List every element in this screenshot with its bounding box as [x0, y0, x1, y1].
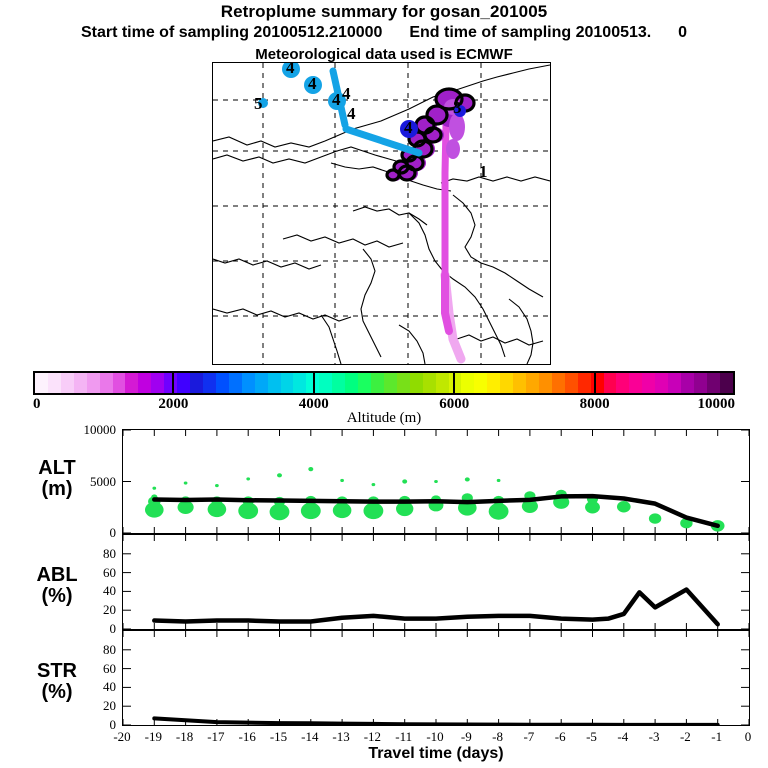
xtick--15: -15	[263, 729, 295, 745]
colorbar-swatch-31	[436, 373, 449, 393]
colorbar-swatch-11	[177, 373, 190, 393]
str-ytick-0: 0	[40, 717, 116, 733]
altitude-colorbar[interactable]	[33, 371, 735, 395]
map-label: 4	[308, 75, 317, 92]
colorbar-swatch-35	[487, 373, 500, 393]
alt-scatter-marker	[277, 473, 282, 477]
map-label: 4	[404, 119, 413, 136]
start-time-value: 20100512.210000	[253, 24, 382, 41]
xtick--6: -6	[544, 729, 576, 745]
start-time-label: Start time of sampling	[81, 24, 249, 41]
alt-scatter-marker	[308, 467, 313, 471]
map-graticule	[213, 63, 550, 364]
map-label: 5	[254, 95, 263, 112]
colorbar-swatch-42	[578, 373, 591, 393]
alt-ytick-5000: 5000	[40, 474, 116, 490]
alt-scatter-marker	[497, 479, 501, 482]
colorbar-swatch-0	[35, 373, 48, 393]
map-label: 4	[347, 105, 356, 122]
alt-chart[interactable]	[122, 429, 750, 534]
colorbar-swatch-4	[87, 373, 100, 393]
alt-ytick-0: 0	[40, 525, 116, 541]
alt-scatter-marker	[340, 479, 344, 482]
colorbar-swatch-33	[461, 373, 474, 393]
colorbar-tick-0: 0	[33, 396, 93, 413]
colorbar-swatch-15	[229, 373, 242, 393]
colorbar-swatch-19	[281, 373, 294, 393]
colorbar-divider-3	[594, 371, 596, 395]
alt-scatter-marker	[402, 479, 407, 483]
colorbar-swatch-2	[61, 373, 74, 393]
str-ytick-80: 80	[40, 642, 116, 658]
colorbar-swatch-6	[113, 373, 126, 393]
colorbar-swatch-50	[681, 373, 694, 393]
map-label: 4	[332, 91, 341, 108]
colorbar-swatch-34	[474, 373, 487, 393]
colorbar-swatch-22	[319, 373, 332, 393]
alt-scatter-marker	[152, 487, 156, 490]
xtick--3: -3	[638, 729, 670, 745]
colorbar-swatch-46	[629, 373, 642, 393]
colorbar-swatch-16	[242, 373, 255, 393]
xtick--5: -5	[576, 729, 608, 745]
colorbar-swatch-24	[345, 373, 358, 393]
colorbar-swatch-48	[655, 373, 668, 393]
map-graphic	[213, 63, 550, 364]
colorbar-tick-2000: 2000	[143, 396, 203, 413]
str-plot-area	[123, 631, 749, 725]
xtick--12: -12	[356, 729, 388, 745]
colorbar-divider-1	[313, 371, 315, 395]
xtick--16: -16	[231, 729, 263, 745]
xtick--11: -11	[388, 729, 420, 745]
colorbar-swatch-26	[371, 373, 384, 393]
colorbar-swatch-9	[151, 373, 164, 393]
xtick--18: -18	[169, 729, 201, 745]
abl-chart[interactable]	[122, 534, 750, 630]
xtick--13: -13	[325, 729, 357, 745]
xtick--19: -19	[137, 729, 169, 745]
abl-ytick-60: 60	[40, 565, 116, 581]
xtick--17: -17	[200, 729, 232, 745]
colorbar-divider-2	[453, 371, 455, 395]
xtick--14: -14	[294, 729, 326, 745]
colorbar-swatch-37	[513, 373, 526, 393]
plume-trail	[445, 125, 461, 359]
colorbar-swatch-3	[74, 373, 87, 393]
str-ytick-60: 60	[40, 661, 116, 677]
abl-plot-area	[123, 535, 749, 629]
colorbar-swatch-8	[138, 373, 151, 393]
colorbar-swatch-1	[48, 373, 61, 393]
colorbar-swatch-29	[410, 373, 423, 393]
xtick--20: -20	[106, 729, 138, 745]
abl-ytick-20: 20	[40, 602, 116, 618]
colorbar-swatch-49	[668, 373, 681, 393]
map-label: 4	[342, 85, 351, 102]
colorbar-swatch-43	[591, 373, 604, 393]
xtick--8: -8	[482, 729, 514, 745]
colorbar-swatch-5	[100, 373, 113, 393]
alt-scatter-marker	[649, 513, 661, 523]
colorbar-swatch-51	[694, 373, 707, 393]
retroplume-map[interactable]: 4 4 4 4 4 5 4 3 1	[212, 62, 551, 365]
str-ytick-40: 40	[40, 679, 116, 695]
alt-scatter-marker	[434, 480, 438, 483]
xtick--2: -2	[669, 729, 701, 745]
alt-ytick-10000: 10000	[40, 422, 116, 438]
sampling-time-line: Start time of sampling 20100512.210000 E…	[0, 24, 768, 42]
alt-scatter-marker	[184, 481, 188, 484]
xtick--9: -9	[450, 729, 482, 745]
abl-ytick-80: 80	[40, 546, 116, 562]
end-time-value: 20100513.	[576, 24, 652, 41]
colorbar-swatch-12	[190, 373, 203, 393]
end-time-label: End time of sampling	[409, 24, 571, 41]
page-title: Retroplume summary for gosan_201005	[0, 2, 768, 22]
colorbar-tick-4000: 4000	[284, 396, 344, 413]
colorbar-swatch-27	[384, 373, 397, 393]
colorbar-swatch-28	[397, 373, 410, 393]
abl-ytick-40: 40	[40, 583, 116, 599]
map-label: 4	[286, 62, 295, 76]
colorbar-tick-8000: 8000	[565, 396, 625, 413]
colorbar-tick-6000: 6000	[424, 396, 484, 413]
end-time-extra: 0	[678, 24, 687, 41]
colorbar-swatch-45	[616, 373, 629, 393]
colorbar-tick-10000: 10000	[675, 396, 735, 413]
alt-scatter-marker	[246, 477, 250, 480]
colorbar-swatch-17	[255, 373, 268, 393]
alt-scatter-marker	[489, 503, 509, 520]
colorbar-divider-0	[172, 371, 174, 395]
colorbar-swatch-53	[720, 373, 733, 393]
colorbar-swatch-39	[539, 373, 552, 393]
xtick--4: -4	[607, 729, 639, 745]
alt-scatter-marker	[215, 484, 219, 487]
map-label: 3	[453, 99, 462, 116]
colorbar-swatch-25	[358, 373, 371, 393]
str-ytick-20: 20	[40, 698, 116, 714]
xtick--7: -7	[513, 729, 545, 745]
xtick--1: -1	[701, 729, 733, 745]
xtick-0: 0	[732, 729, 764, 745]
colorbar-swatch-47	[642, 373, 655, 393]
alt-scatter-marker	[617, 501, 631, 512]
colorbar-swatch-20	[293, 373, 306, 393]
colorbar-swatch-13	[203, 373, 216, 393]
str-chart[interactable]	[122, 630, 750, 726]
colorbar-swatch-40	[552, 373, 565, 393]
colorbar-swatch-10	[164, 373, 177, 393]
map-label: 1	[479, 163, 488, 180]
abl-ytick-0: 0	[40, 621, 116, 637]
colorbar-swatch-44	[604, 373, 617, 393]
xtick--10: -10	[419, 729, 451, 745]
colorbar-gradient	[33, 371, 735, 395]
colorbar-swatch-38	[526, 373, 539, 393]
met-data-line: Meteorological data used is ECMWF	[0, 46, 768, 63]
colorbar-swatch-14	[216, 373, 229, 393]
colorbar-swatch-36	[500, 373, 513, 393]
colorbar-swatch-7	[125, 373, 138, 393]
map-coastlines	[213, 65, 550, 364]
colorbar-swatch-30	[423, 373, 436, 393]
xaxis-title: Travel time (days)	[122, 745, 750, 763]
abl-line	[154, 590, 717, 625]
colorbar-swatch-18	[268, 373, 281, 393]
colorbar-swatch-52	[707, 373, 720, 393]
colorbar-swatch-41	[565, 373, 578, 393]
alt-scatter-marker	[465, 477, 470, 481]
alt-plot-area	[123, 430, 749, 533]
alt-scatter-marker	[372, 483, 376, 486]
colorbar-swatch-23	[332, 373, 345, 393]
